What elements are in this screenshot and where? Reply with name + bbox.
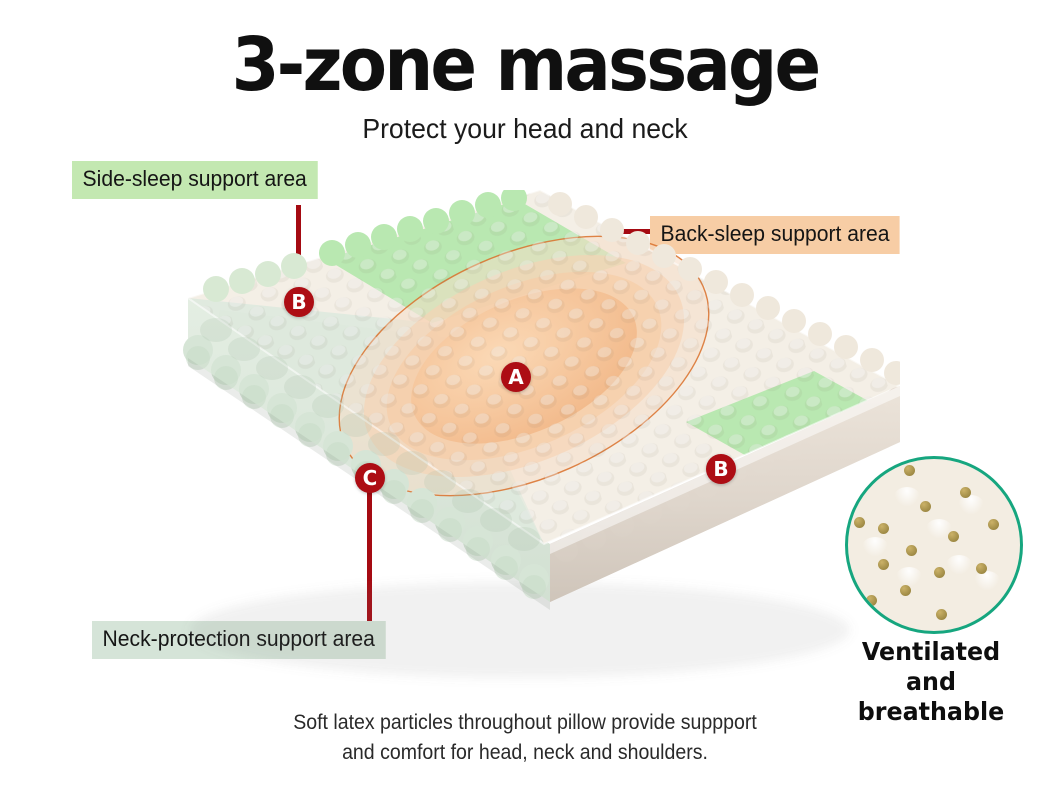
footnote: Soft latex particles throughout pillow p… (37, 708, 1014, 768)
marker-b-left[interactable]: B (284, 287, 314, 317)
pillow-illustration (120, 190, 900, 700)
marker-b-right[interactable]: B (706, 454, 736, 484)
page-title: 3-zone massage (37, 26, 1014, 104)
footnote-line1: Soft latex particles throughout pillow p… (293, 711, 757, 734)
marker-c[interactable]: C (355, 463, 385, 493)
marker-a[interactable]: A (501, 362, 531, 392)
footnote-line2: and comfort for head, neck and shoulders… (342, 741, 708, 764)
ventilation-closeup-circle (845, 456, 1023, 634)
latex-surface-texture (848, 459, 1020, 631)
infographic-canvas: 3-zone massage Protect your head and nec… (0, 0, 1050, 799)
page-subtitle: Protect your head and neck (26, 112, 1024, 146)
